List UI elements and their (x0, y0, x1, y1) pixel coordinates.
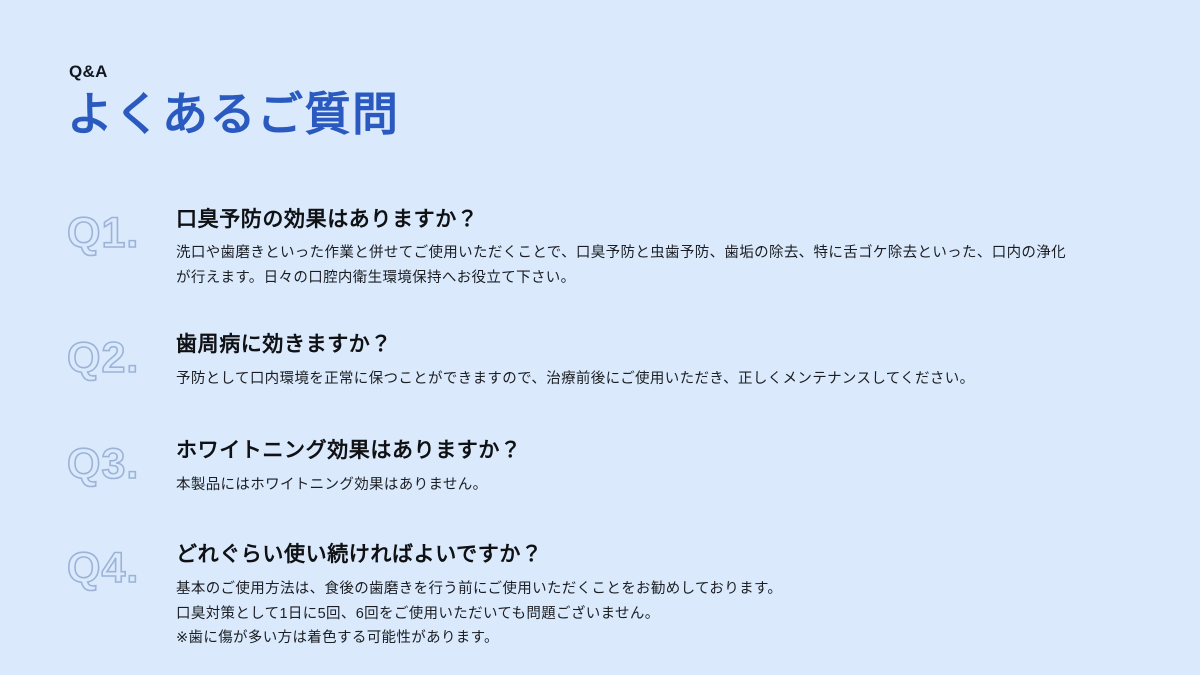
faq-page: Q&A よくあるご質問 Q1. 口臭予防の効果はありますか？ 洗口や歯磨きといっ… (0, 0, 1200, 675)
answer-line: 洗口や歯磨きといった作業と併せてご使用いただくことで、口臭予防と虫歯予防、歯垢の… (176, 241, 1066, 291)
faq-item: Q3. ホワイトニング効果はありますか？ 本製品にはホワイトニング効果はありませ… (60, 437, 1145, 501)
answer-text: 洗口や歯磨きといった作業と併せてご使用いただくことで、口臭予防と虫歯予防、歯垢の… (176, 241, 1066, 291)
question-title: ホワイトニング効果はありますか？ (176, 437, 1145, 465)
question-number-badge: Q1. (67, 212, 139, 255)
answer-line: 予防として口内環境を正常に保つことができますので、治療前後にご使用いただき、正し… (176, 367, 1066, 392)
section-kicker: Q&A (69, 62, 400, 82)
faq-item: Q1. 口臭予防の効果はありますか？ 洗口や歯磨きといった作業と併せてご使用いた… (60, 206, 1145, 291)
answer-line: 基本のご使用方法は、食後の歯磨きを行う前にご使用いただくことをお勧めしております… (176, 577, 1066, 602)
page-header: Q&A よくあるご質問 (67, 62, 400, 141)
answer-line: 口臭対策として1日に5回、6回をご使用いただいても問題ございません。 (176, 602, 1066, 627)
faq-item: Q2. 歯周病に効きますか？ 予防として口内環境を正常に保つことができますので、… (60, 331, 1145, 395)
answer-text: 本製品にはホワイトニング効果はありません。 (176, 473, 1066, 498)
answer-text: 基本のご使用方法は、食後の歯磨きを行う前にご使用いただくことをお勧めしております… (176, 577, 1066, 652)
answer-text: 予防として口内環境を正常に保つことができますので、治療前後にご使用いただき、正し… (176, 367, 1066, 392)
question-title: 歯周病に効きますか？ (176, 331, 1145, 359)
question-title: どれぐらい使い続ければよいですか？ (176, 541, 1145, 569)
answer-line: ※歯に傷が多い方は着色する可能性があります。 (176, 626, 1066, 651)
question-number-badge: Q2. (67, 337, 139, 380)
answer-line: 本製品にはホワイトニング効果はありません。 (176, 473, 1066, 498)
faq-list: Q1. 口臭予防の効果はありますか？ 洗口や歯磨きといった作業と併せてご使用いた… (60, 206, 1145, 651)
question-number-badge: Q4. (67, 547, 139, 590)
faq-item: Q4. どれぐらい使い続ければよいですか？ 基本のご使用方法は、食後の歯磨きを行… (60, 541, 1145, 651)
question-title: 口臭予防の効果はありますか？ (176, 206, 1145, 234)
page-title: よくあるご質問 (67, 88, 400, 141)
question-number-badge: Q3. (67, 443, 139, 486)
